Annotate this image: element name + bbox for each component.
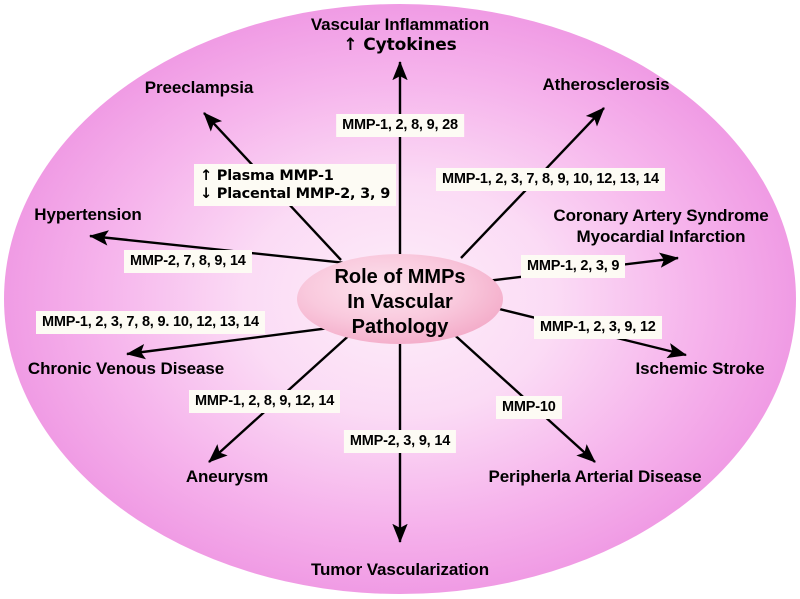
edge-label-ischemic-stroke-line1: MMP-1, 2, 3, 9, 12 <box>540 319 656 336</box>
edge-label-atherosclerosis-line1: MMP-1, 2, 3, 7, 8, 9, 10, 12, 13, 14 <box>442 171 659 188</box>
node-atherosclerosis: Atherosclerosis <box>543 75 670 95</box>
node-vascular-inflammation-line1: Vascular Inflammation <box>311 14 489 35</box>
edge-label-tumor: MMP-2, 3, 9, 14 <box>344 430 456 453</box>
center-title: Role of MMPs In Vascular Pathology <box>334 265 465 340</box>
node-tumor-vascularization: Tumor Vascularization <box>311 560 489 580</box>
node-aneurysm: Aneurysm <box>186 467 268 487</box>
node-vascular-inflammation: Vascular Inflammation ↑ Cytokines <box>311 14 489 56</box>
node-coronary-line2: Myocardial Infarction <box>553 226 768 247</box>
node-hypertension-line1: Hypertension <box>34 205 141 225</box>
edge-label-chronic-venous: MMP-1, 2, 3, 7, 8, 9. 10, 12, 13, 14 <box>36 311 265 334</box>
edge-label-preeclampsia-line2: ↓ Placental MMP-2, 3, 9 <box>200 185 390 203</box>
node-atherosclerosis-line1: Atherosclerosis <box>543 75 670 95</box>
edge-label-coronary-line1: MMP-1, 2, 3, 9 <box>527 258 619 275</box>
edge-label-preeclampsia-line1: ↑ Plasma MMP-1 <box>200 167 390 185</box>
node-coronary-artery-syndrome: Coronary Artery Syndrome Myocardial Infa… <box>553 205 768 247</box>
center-title-line3: Pathology <box>334 315 465 340</box>
edge-label-aneurysm: MMP-1, 2, 8, 9, 12, 14 <box>189 390 340 413</box>
node-tumor-line1: Tumor Vascularization <box>311 560 489 580</box>
node-coronary-line1: Coronary Artery Syndrome <box>553 205 768 226</box>
node-aneurysm-line1: Aneurysm <box>186 467 268 487</box>
node-peripheral-line1: Peripherla Arterial Disease <box>488 467 701 487</box>
node-hypertension: Hypertension <box>34 205 141 225</box>
edge-label-aneurysm-line1: MMP-1, 2, 8, 9, 12, 14 <box>195 393 334 410</box>
edge-label-preeclampsia: ↑ Plasma MMP-1 ↓ Placental MMP-2, 3, 9 <box>194 164 396 206</box>
center-title-line1: Role of MMPs <box>334 265 465 290</box>
edge-label-peripheral-line1: MMP-10 <box>502 399 556 416</box>
node-ischemic-stroke: Ischemic Stroke <box>636 359 765 379</box>
diagram-canvas: Role of MMPs In Vascular Pathology Vascu… <box>0 0 800 599</box>
node-ischemic-stroke-line1: Ischemic Stroke <box>636 359 765 379</box>
center-title-line2: In Vascular <box>334 290 465 315</box>
edge-label-hypertension: MMP-2, 7, 8, 9, 14 <box>124 250 252 273</box>
node-preeclampsia: Preeclampsia <box>145 78 253 98</box>
edge-label-coronary: MMP-1, 2, 3, 9 <box>521 255 625 278</box>
node-vascular-inflammation-line2: ↑ Cytokines <box>311 35 489 56</box>
edge-label-inflammation: MMP-1, 2, 8, 9, 28 <box>336 114 464 137</box>
node-chronic-venous-disease: Chronic Venous Disease <box>28 359 224 379</box>
node-chronic-venous-line1: Chronic Venous Disease <box>28 359 224 379</box>
edge-label-atherosclerosis: MMP-1, 2, 3, 7, 8, 9, 10, 12, 13, 14 <box>436 168 665 191</box>
edge-label-ischemic-stroke: MMP-1, 2, 3, 9, 12 <box>534 316 662 339</box>
node-preeclampsia-line1: Preeclampsia <box>145 78 253 98</box>
edge-label-peripheral: MMP-10 <box>496 396 562 419</box>
edge-label-chronic-venous-line1: MMP-1, 2, 3, 7, 8, 9. 10, 12, 13, 14 <box>42 314 259 331</box>
edge-label-inflammation-line1: MMP-1, 2, 8, 9, 28 <box>342 117 458 134</box>
edge-label-tumor-line1: MMP-2, 3, 9, 14 <box>350 433 450 450</box>
edge-label-hypertension-line1: MMP-2, 7, 8, 9, 14 <box>130 253 246 270</box>
node-peripheral-arterial-disease: Peripherla Arterial Disease <box>488 467 701 487</box>
